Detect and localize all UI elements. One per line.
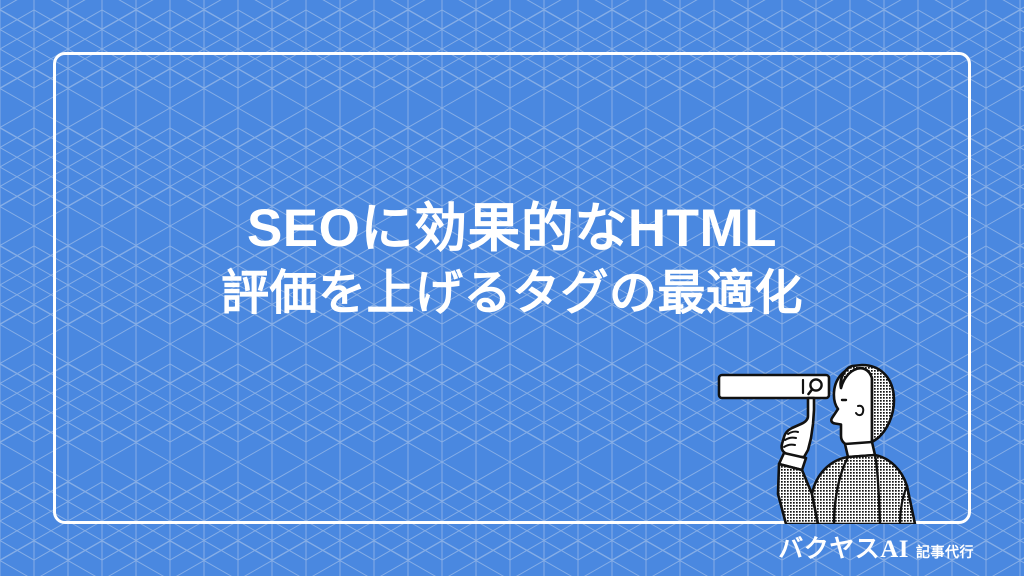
head-graphic <box>831 365 894 446</box>
brand-logo: バクヤスAI 記事代行 <box>778 537 974 562</box>
illustration-person-search <box>712 358 922 524</box>
title-line-1: SEOに効果的なHTML <box>0 196 1024 262</box>
search-bar-graphic <box>719 375 829 398</box>
logo-secondary-text: 記事代行 <box>916 545 974 559</box>
pointing-hand-graphic <box>782 398 814 457</box>
slide-canvas: SEOに効果的なHTML 評価を上げるタグの最適化 <box>0 0 1024 576</box>
title-block: SEOに効果的なHTML 評価を上げるタグの最適化 <box>0 196 1024 326</box>
title-line-2: 評価を上げるタグの最適化 <box>0 262 1024 326</box>
logo-primary-text: バクヤスAI <box>778 537 909 562</box>
